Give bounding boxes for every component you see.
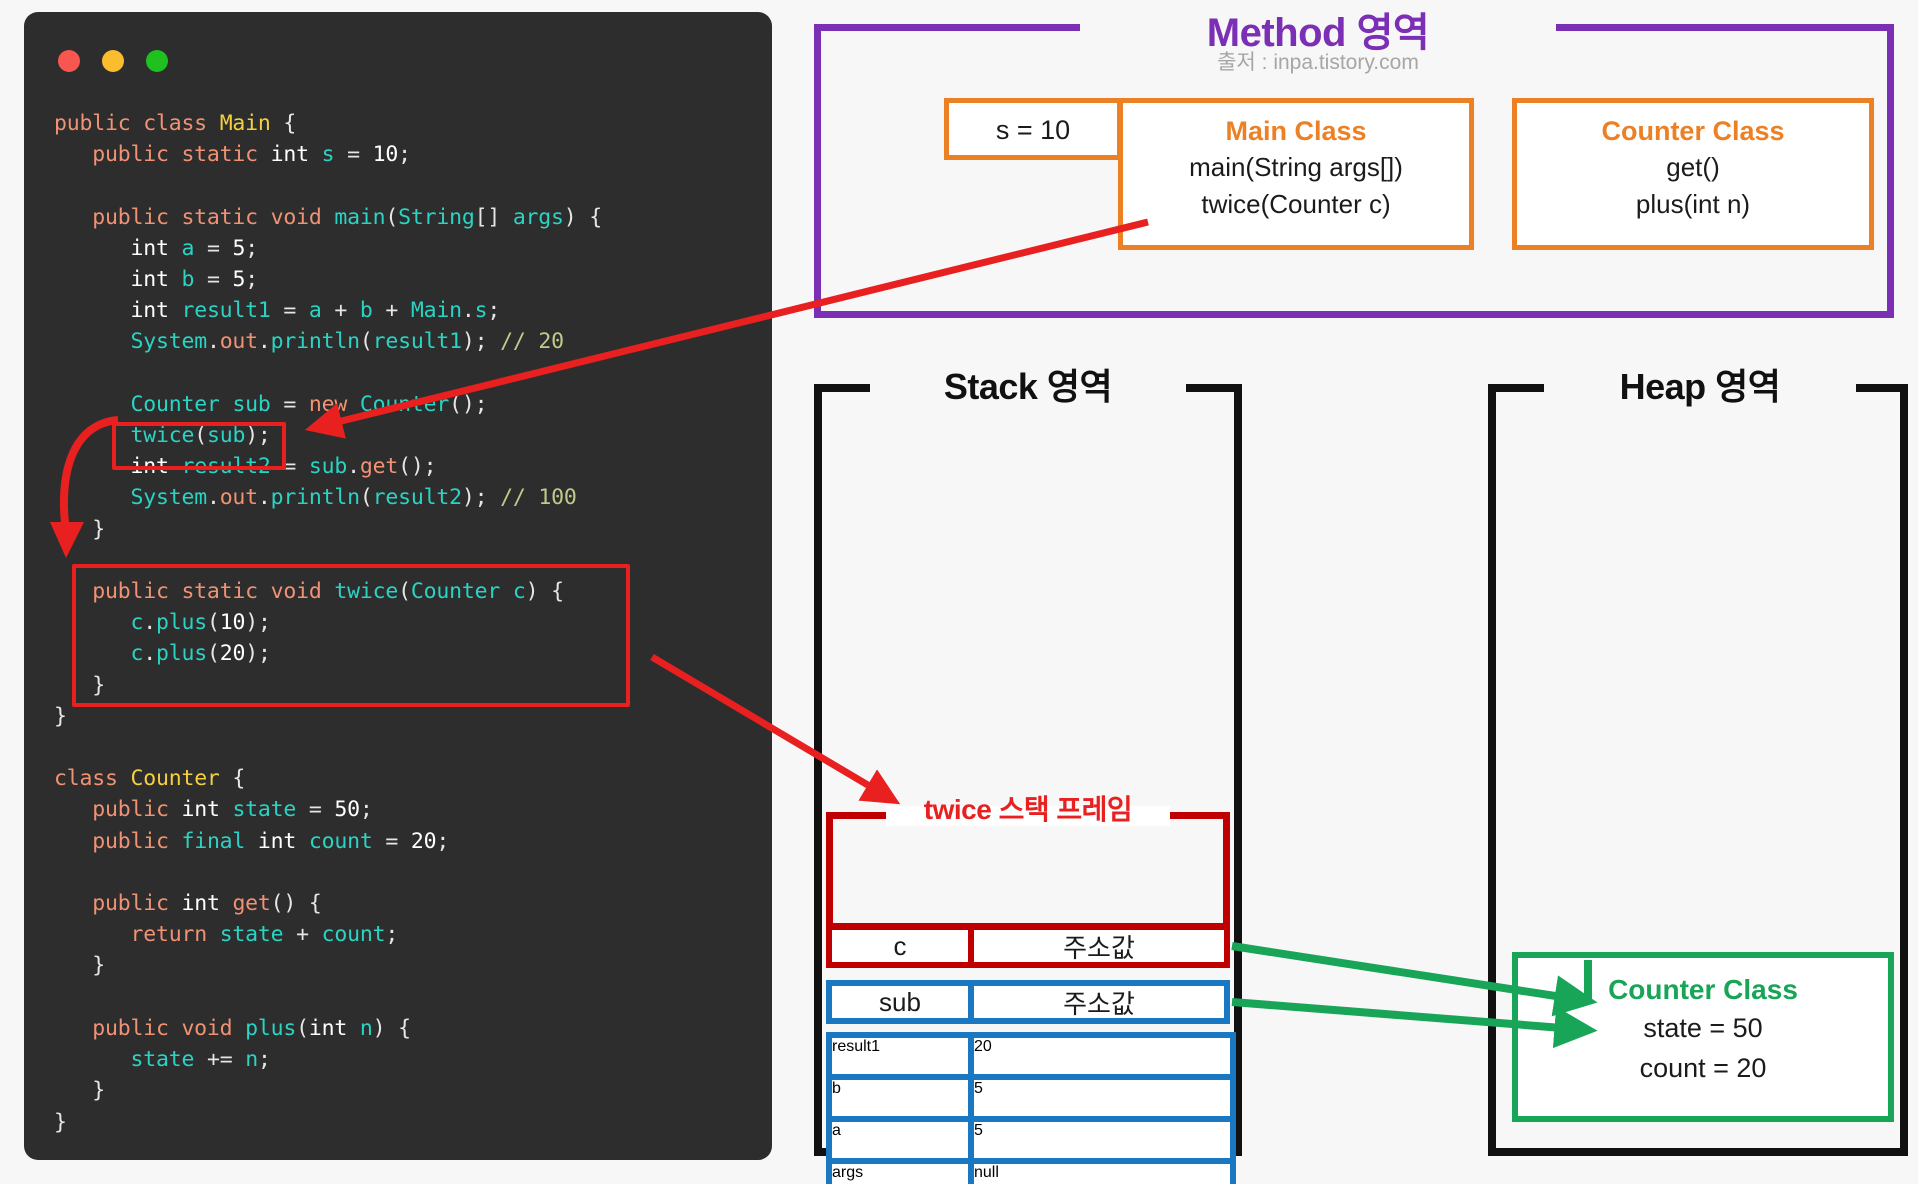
maximize-icon[interactable] — [146, 50, 168, 72]
twice-stack-frame-title: twice 스택 프레임 — [866, 788, 1190, 828]
stack-row-sub-value: 주소값 — [968, 986, 1224, 1018]
static-variable-box: s = 10 — [944, 98, 1122, 160]
counter-class-title: Counter Class — [1517, 113, 1869, 149]
stack-row-b-value: 5 — [968, 1080, 1230, 1116]
stack-row-c-value: 주소값 — [968, 930, 1224, 962]
window-traffic-lights — [58, 50, 168, 72]
stack-row-c-key: c — [832, 930, 968, 962]
heap-counter-field-0: state = 50 — [1518, 1008, 1888, 1048]
counter-class-member-1: plus(int n) — [1517, 186, 1869, 223]
twice-stack-frame-box — [826, 812, 1230, 930]
code-window: public class Main { public static int s … — [24, 12, 772, 1160]
stack-row-b-key: b — [832, 1080, 968, 1116]
stack-row-args-key: args — [832, 1164, 968, 1184]
close-icon[interactable] — [58, 50, 80, 72]
stack-row-result1: result1 20 — [832, 1038, 1230, 1074]
minimize-icon[interactable] — [102, 50, 124, 72]
stack-row-b: b 5 — [832, 1074, 1230, 1116]
counter-class-box: Counter Class get() plus(int n) — [1512, 98, 1874, 250]
stack-row-args-value: null — [968, 1164, 1230, 1184]
stack-row-sub: sub 주소값 — [826, 980, 1230, 1024]
stack-row-sub-key: sub — [832, 986, 968, 1018]
stack-row-result1-key: result1 — [832, 1038, 968, 1074]
stack-row-c: c 주소값 — [826, 924, 1230, 968]
curved-arrow-icon — [44, 410, 244, 610]
stack-row-a: a 5 — [832, 1116, 1230, 1158]
heap-counter-instance-box: Counter Class state = 50 count = 20 — [1512, 952, 1894, 1122]
heap-counter-title: Counter Class — [1518, 972, 1888, 1008]
stack-row-a-key: a — [832, 1122, 968, 1158]
heap-area-title: Heap 영역 — [1544, 358, 1856, 410]
stack-row-result1-value: 20 — [968, 1038, 1230, 1074]
main-class-box: Main Class main(String args[]) twice(Cou… — [1118, 98, 1474, 250]
diagram-root: public class Main { public static int s … — [0, 0, 1918, 1184]
counter-class-member-0: get() — [1517, 149, 1869, 186]
stack-row-a-value: 5 — [968, 1122, 1230, 1158]
heap-counter-field-1: count = 20 — [1518, 1048, 1888, 1088]
source-attribution: 출저 : inpa.tistory.com — [1080, 46, 1556, 76]
main-class-member-0: main(String args[]) — [1123, 149, 1469, 186]
stack-row-args: args null — [832, 1158, 1230, 1184]
stack-area-title: Stack 영역 — [870, 358, 1186, 410]
main-class-member-1: twice(Counter c) — [1123, 186, 1469, 223]
stack-main-frame-rows: result1 20 b 5 a 5 args null — [826, 1032, 1236, 1184]
main-class-title: Main Class — [1123, 113, 1469, 149]
